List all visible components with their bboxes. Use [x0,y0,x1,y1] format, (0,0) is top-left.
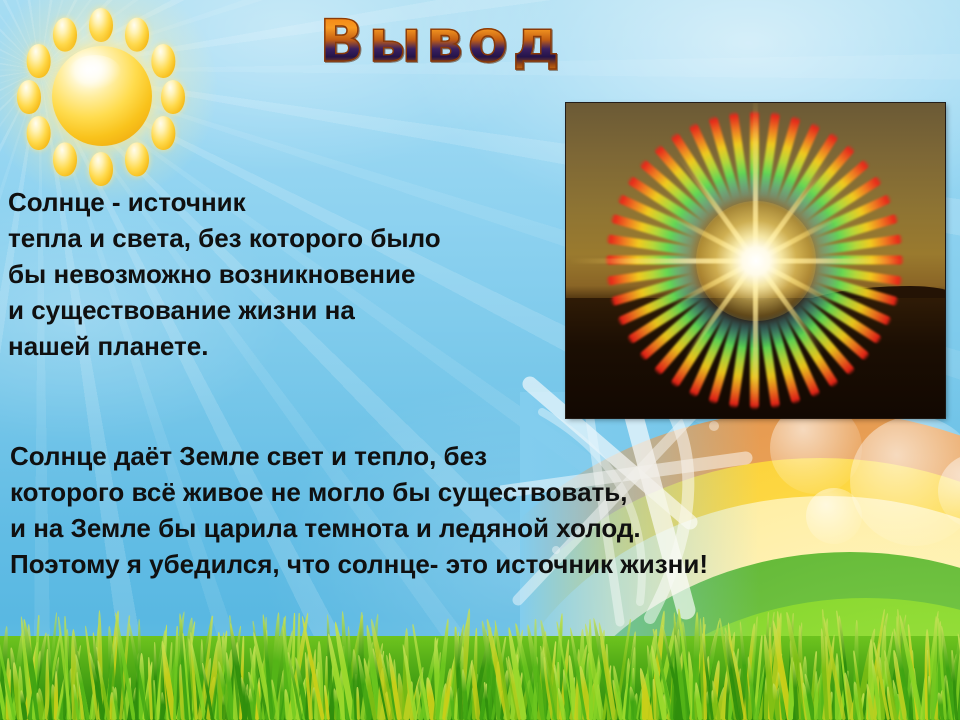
paragraph-line: и на Земле бы царила темнота и ледяной х… [10,510,948,546]
sun-icon [8,4,194,190]
paragraph-line: Солнце - источник [8,184,556,220]
sun-ray [125,18,149,52]
conclusion-paragraph-2: Солнце даёт Земле свет и тепло, без кото… [0,438,948,582]
sun-ray [53,18,77,52]
sun-ray [151,44,175,78]
paragraph-line: Солнце даёт Земле свет и тепло, без [10,438,948,474]
photo-star-flare-core [696,201,816,321]
sun-ray [27,116,51,150]
sun-core [52,46,152,146]
grass-decoration [0,588,960,720]
slide-title-text: Вывод [262,8,622,74]
grass-blades [0,588,960,720]
conclusion-paragraph-1: Солнце - источник тепла и света, без кот… [0,184,556,364]
sun-ray [125,142,149,176]
paragraph-line: и существование жизни на [8,292,556,328]
paragraph-line: которого всё живое не могло бы существов… [10,474,948,510]
paragraph-line: нашей планете. [8,328,556,364]
sun-ray [27,44,51,78]
sun-ray [53,142,77,176]
sun-ray [161,80,185,114]
paragraph-line: Поэтому я убедился, что солнце- это исто… [10,546,948,582]
presentation-slide: Вывод Солнце - источник тепла и света, б… [0,0,960,720]
paragraph-line: бы невозможно возникновение [8,256,556,292]
paragraph-line: тепла и света, без которого было [8,220,556,256]
sun-ray [17,80,41,114]
slide-title: Вывод [262,8,622,74]
sunburst-photo [566,103,945,418]
sun-ray [89,8,113,42]
sun-ray [89,152,113,186]
sun-ray [151,116,175,150]
